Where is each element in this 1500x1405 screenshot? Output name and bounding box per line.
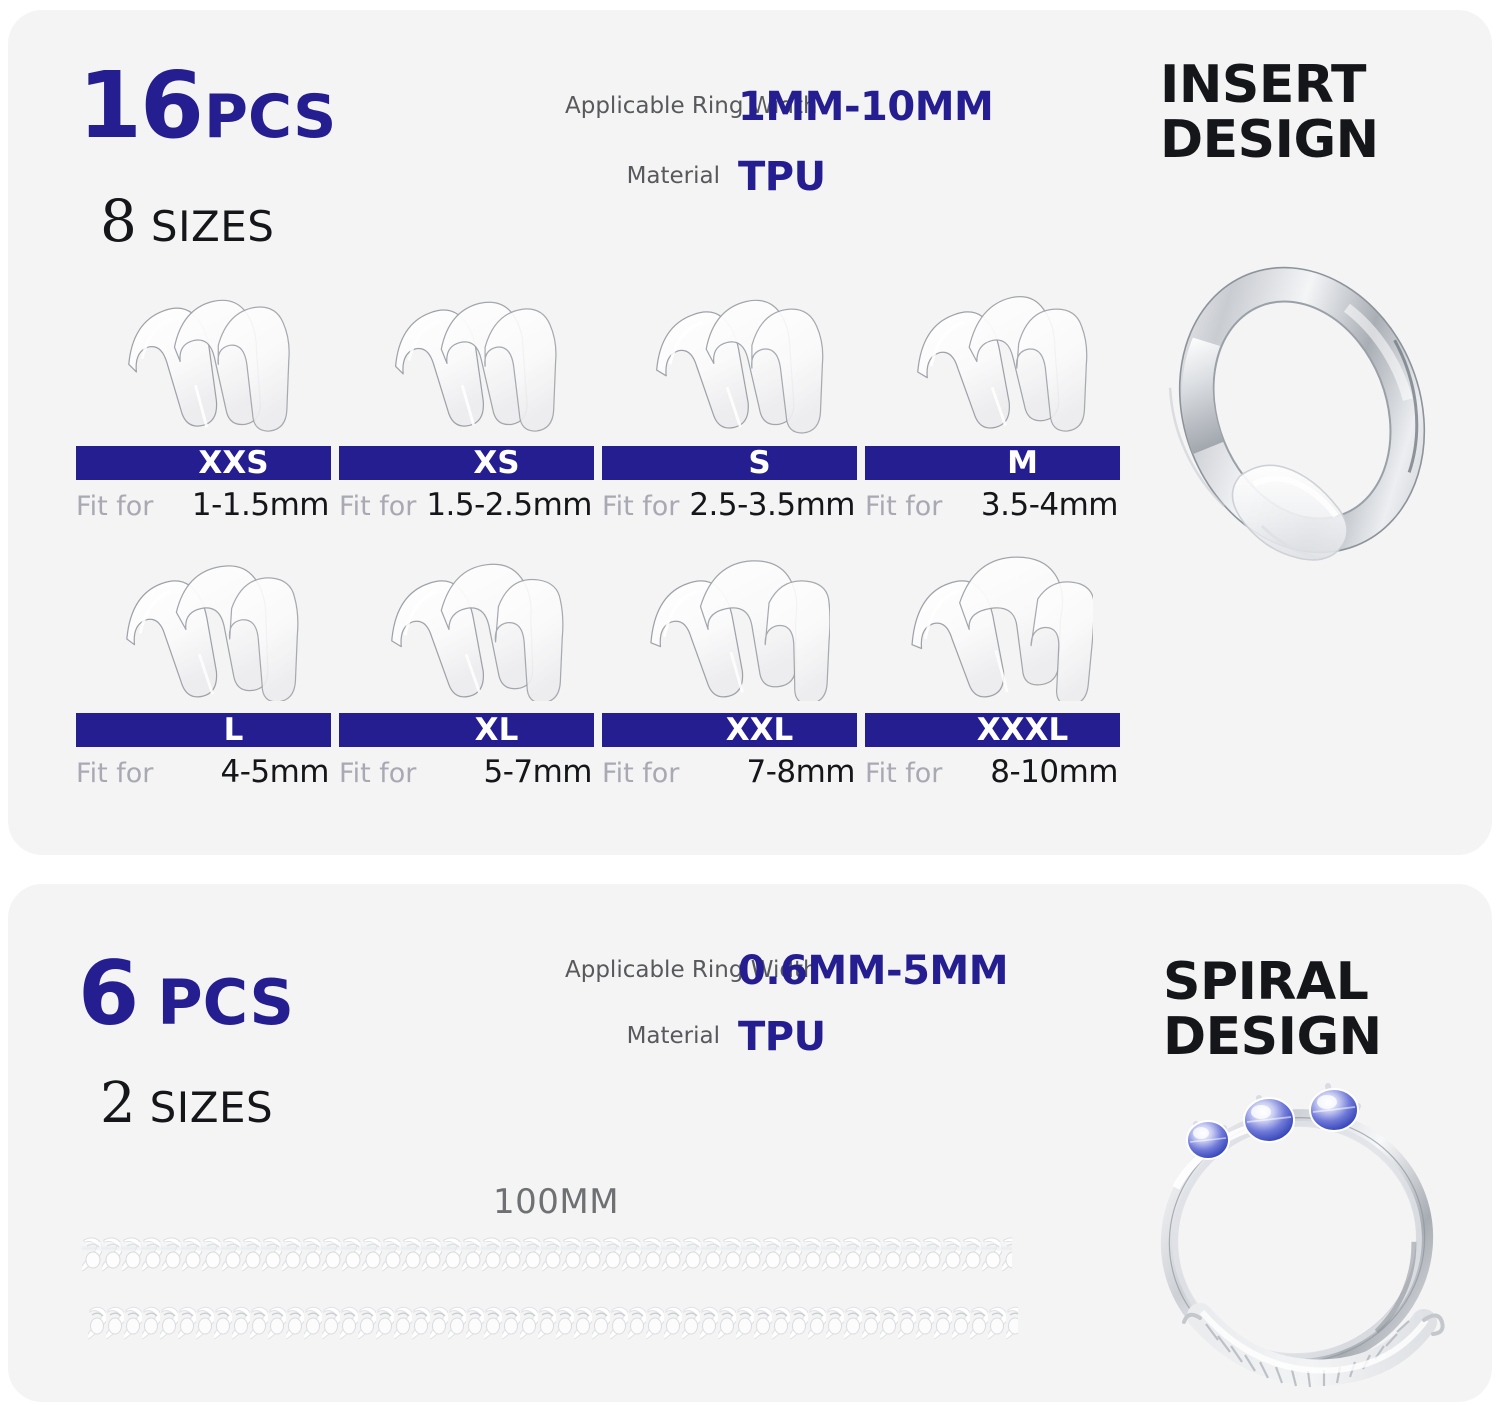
size-cell[interactable]: XXS Fit for 1-1.5mm <box>76 276 331 523</box>
insert-design-heading: INSERT DESIGN <box>1160 58 1379 167</box>
coil-length-label: 100MM <box>493 1182 619 1222</box>
fit-for-label: Fit for <box>602 758 679 789</box>
fit-for-label: Fit for <box>339 491 416 522</box>
spec-row-ring-width: Applicable Ring Width 0.6MM-5MM <box>565 948 1008 994</box>
spiral-design-heading: SPIRAL DESIGN <box>1163 955 1382 1064</box>
insert-piece-count: 16 PCS <box>78 60 336 152</box>
clip-icon <box>865 543 1120 713</box>
spec-label-material: Material <box>565 1022 720 1051</box>
fit-row: Fit for 4-5mm <box>76 754 331 790</box>
spec-value-ring-width: 1MM-10MM <box>738 84 993 130</box>
size-cell[interactable]: XL Fit for 5-7mm <box>339 543 594 790</box>
size-bar-label: XXXL <box>977 715 1068 746</box>
spec-row-material: Material TPU <box>565 154 993 200</box>
spec-value-ring-width: 0.6MM-5MM <box>738 948 1008 994</box>
fit-row: Fit for 3.5-4mm <box>865 487 1120 523</box>
clip-icon <box>76 276 331 446</box>
spiral-coil-strip <box>82 1234 1012 1272</box>
size-bar-label: S <box>748 448 770 479</box>
fit-for-label: Fit for <box>602 491 679 522</box>
clip-icon <box>76 543 331 713</box>
fit-for-label: Fit for <box>865 491 942 522</box>
fit-row: Fit for 5-7mm <box>339 754 594 790</box>
size-bar-label: XXS <box>198 448 268 479</box>
size-bar-label: XS <box>473 448 519 479</box>
size-bar: S <box>602 446 857 480</box>
insert-sizes-number: 8 <box>100 192 137 250</box>
fit-row: Fit for 8-10mm <box>865 754 1120 790</box>
clip-icon <box>339 276 594 446</box>
size-cell[interactable]: XXXL Fit for 8-10mm <box>865 543 1120 790</box>
fit-range-value: 2.5-3.5mm <box>689 487 855 523</box>
spiral-coil-strip <box>88 1302 1018 1340</box>
fit-row: Fit for 7-8mm <box>602 754 857 790</box>
size-bar: XXL <box>602 713 857 747</box>
fit-range-value: 3.5-4mm <box>981 487 1118 523</box>
fit-for-label: Fit for <box>339 758 416 789</box>
size-bar: L <box>76 713 331 747</box>
insert-sizes-word: SIZES <box>151 206 275 248</box>
clip-icon <box>602 276 857 446</box>
spec-label-material: Material <box>565 162 720 191</box>
fit-range-value: 4-5mm <box>220 754 329 790</box>
spiral-size-count: 2 SIZES <box>100 1076 273 1132</box>
spec-row-ring-width: Applicable Ring Width 1MM-10MM <box>565 84 993 130</box>
size-bar: XXXL <box>865 713 1120 747</box>
size-cell[interactable]: L Fit for 4-5mm <box>76 543 331 790</box>
fit-row: Fit for 1-1.5mm <box>76 487 331 523</box>
fit-row: Fit for 2.5-3.5mm <box>602 487 857 523</box>
fit-row: Fit for 1.5-2.5mm <box>339 487 594 523</box>
fit-range-value: 1-1.5mm <box>192 487 329 523</box>
size-bar: XL <box>339 713 594 747</box>
clip-icon <box>339 543 594 713</box>
insert-count-unit: PCS <box>204 87 336 147</box>
spiral-ring-photo <box>1132 1080 1462 1390</box>
insert-ring-photo <box>1142 240 1462 580</box>
size-bar-label: L <box>224 715 244 746</box>
size-bar-label: XXL <box>726 715 794 746</box>
fit-range-value: 7-8mm <box>746 754 855 790</box>
clip-icon <box>865 276 1120 446</box>
fit-for-label: Fit for <box>76 758 153 789</box>
fit-range-value: 5-7mm <box>483 754 592 790</box>
insert-size-grid: XXS Fit for 1-1.5mm <box>76 276 1120 790</box>
size-bar: M <box>865 446 1120 480</box>
fit-for-label: Fit for <box>865 758 942 789</box>
clip-icon <box>602 543 857 713</box>
infographic-canvas: 16 PCS 8 SIZES Applicable Ring Width 1MM… <box>0 0 1500 1405</box>
insert-count-number: 16 <box>78 60 202 152</box>
size-bar-label: XL <box>475 715 519 746</box>
spec-label-ring-width: Applicable Ring Width <box>565 92 720 121</box>
spiral-count-unit: PCS <box>157 972 294 1034</box>
spiral-spec-list: Applicable Ring Width 0.6MM-5MM Material… <box>565 948 1008 1060</box>
spec-value-material: TPU <box>738 1014 826 1060</box>
size-cell[interactable]: XS Fit for 1.5-2.5mm <box>339 276 594 523</box>
fit-for-label: Fit for <box>76 491 153 522</box>
size-bar: XS <box>339 446 594 480</box>
size-cell[interactable]: S Fit for 2.5-3.5mm <box>602 276 857 523</box>
spiral-count-number: 6 <box>78 950 137 1038</box>
size-cell[interactable]: XXL Fit for 7-8mm <box>602 543 857 790</box>
spiral-sizes-word: SIZES <box>150 1087 274 1129</box>
spec-label-ring-width: Applicable Ring Width <box>565 956 720 985</box>
fit-range-value: 8-10mm <box>990 754 1118 790</box>
fit-range-value: 1.5-2.5mm <box>426 487 592 523</box>
insert-spec-list: Applicable Ring Width 1MM-10MM Material … <box>565 84 993 200</box>
size-cell[interactable]: M Fit for 3.5-4mm <box>865 276 1120 523</box>
spec-row-material: Material TPU <box>565 1014 1008 1060</box>
grid-row-spacer <box>76 523 1120 543</box>
spiral-sizes-number: 2 <box>100 1076 136 1132</box>
insert-size-count: 8 SIZES <box>100 192 274 250</box>
size-bar-label: M <box>1007 448 1038 479</box>
spec-value-material: TPU <box>738 154 826 200</box>
size-bar: XXS <box>76 446 331 480</box>
spiral-piece-count: 6 PCS <box>78 950 294 1038</box>
